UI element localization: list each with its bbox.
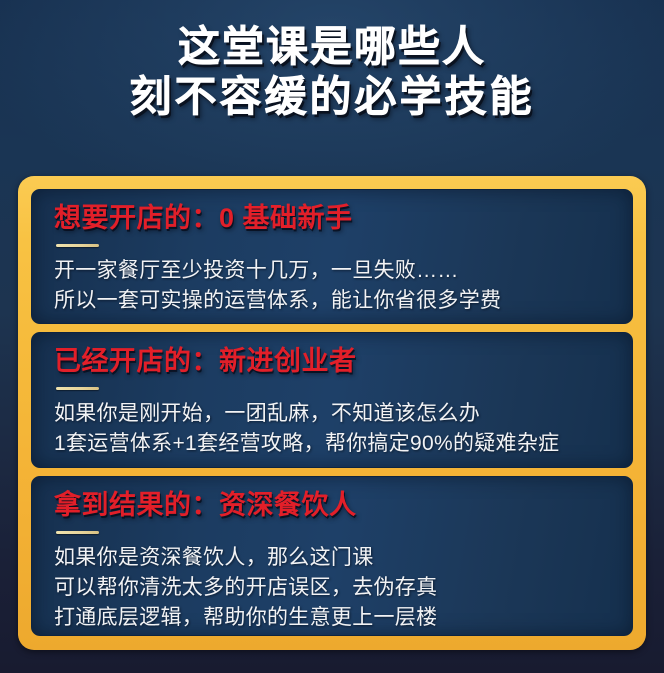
audience-card-body: 如果你是资深餐饮人，那么这门课 可以帮你清洗太多的开店误区，去伪存真 打通底层逻… — [54, 543, 610, 633]
body-line: 如果你是资深餐饮人，那么这门课 — [54, 543, 610, 573]
body-line: 所以一套可实操的运营体系，能让你省很多学费 — [54, 286, 610, 316]
page-title-line-2: 刻不容缓的必学技能 — [0, 72, 664, 122]
audience-card-new-owner: 已经开店的：新进创业者 如果你是刚开始，一团乱麻，不知道该怎么办 1套运营体系+… — [31, 332, 633, 468]
audience-card-heading: 想要开店的：0 基础新手 — [54, 201, 610, 235]
audience-card-veteran: 拿到结果的：资深餐饮人 如果你是资深餐饮人，那么这门课 可以帮你清洗太多的开店误… — [31, 476, 633, 636]
audience-card-body: 开一家餐厅至少投资十几万，一旦失败…… 所以一套可实操的运营体系，能让你省很多学… — [54, 256, 610, 316]
promo-poster: 这堂课是哪些人 刻不容缓的必学技能 想要开店的：0 基础新手 开一家餐厅至少投资… — [0, 0, 664, 673]
audience-card-heading: 拿到结果的：资深餐饮人 — [54, 488, 610, 522]
audience-cards-frame: 想要开店的：0 基础新手 开一家餐厅至少投资十几万，一旦失败…… 所以一套可实操… — [18, 176, 646, 650]
audience-card-body: 如果你是刚开始，一团乱麻，不知道该怎么办 1套运营体系+1套经营攻略，帮你搞定9… — [54, 399, 610, 459]
body-line: 打通底层逻辑，帮助你的生意更上一层楼 — [54, 603, 610, 633]
page-title: 这堂课是哪些人 刻不容缓的必学技能 — [0, 22, 664, 122]
body-line: 1套运营体系+1套经营攻略，帮你搞定90%的疑难杂症 — [54, 429, 610, 459]
heading-divider — [56, 387, 99, 390]
body-line: 可以帮你清洗太多的开店误区，去伪存真 — [54, 573, 610, 603]
page-title-line-1: 这堂课是哪些人 — [0, 22, 664, 72]
heading-divider — [56, 531, 99, 534]
heading-divider — [56, 244, 99, 247]
body-line: 开一家餐厅至少投资十几万，一旦失败…… — [54, 256, 610, 286]
body-line: 如果你是刚开始，一团乱麻，不知道该怎么办 — [54, 399, 610, 429]
audience-card-beginner: 想要开店的：0 基础新手 开一家餐厅至少投资十几万，一旦失败…… 所以一套可实操… — [31, 189, 633, 324]
audience-card-heading: 已经开店的：新进创业者 — [54, 344, 610, 378]
